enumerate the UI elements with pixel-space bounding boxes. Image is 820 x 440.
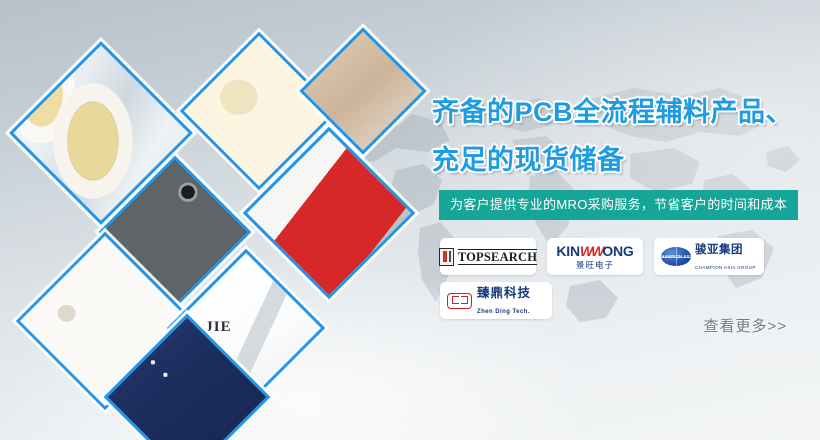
partner-logo-champion-asia[interactable]: CHAMPION ASIA 骏亚集团 CHAMPION ASIA GROUP [654,238,764,275]
champion-asia-name-cn: 骏亚集团 [695,244,743,256]
champion-asia-name-en: CHAMPION ASIA GROUP [695,265,756,270]
headline-line-2: 充足的现货储备 [432,136,820,184]
banner-headline: 齐备的PCB全流程辅料产品、 充足的现货储备 [432,88,820,184]
headline-line-1: 齐备的PCB全流程辅料产品、 [432,97,793,127]
zhen-ding-name-cn: 臻鼎科技 [477,286,531,300]
product-collage: JIE [0,0,470,440]
banner-subtitle-bar: 为客户提供专业的MRO采购服务，节省客户的时间和成本 [439,190,798,220]
topsearch-emblem-icon [439,248,454,266]
banner-content: 齐备的PCB全流程辅料产品、 充足的现货储备 为客户提供专业的MRO采购服务，节… [430,0,820,440]
kinwong-wordmark-icon: KINWWONG [556,244,633,258]
partner-logo-topsearch[interactable]: TOPSEARCH [440,238,536,275]
label-text: JIE [205,320,231,337]
promo-banner: JIE 齐备的PCB全流程辅料产品、 充足的现货储备 为客户提供专业的MRO采购… [0,0,820,440]
partner-logo-row-2: 臻鼎科技 Zhen Ding Tech. [440,282,820,319]
partner-logo-row-1: TOPSEARCH KINWWONG 景旺电子 CHAMPION ASIA [440,238,820,275]
topsearch-wordmark: TOPSEARCH [458,249,537,265]
partner-logo-kinwong[interactable]: KINWWONG 景旺电子 [547,238,643,275]
partner-logo-zhen-ding[interactable]: 臻鼎科技 Zhen Ding Tech. [440,282,552,319]
kinwong-name-cn: 景旺电子 [556,261,633,270]
zhen-ding-emblem-icon [447,293,472,309]
zhen-ding-name-en: Zhen Ding Tech. [477,309,530,315]
partner-logo-group: TOPSEARCH KINWWONG 景旺电子 CHAMPION ASIA [440,238,820,326]
view-more-link[interactable]: 查看更多>> [703,315,787,336]
champion-asia-globe-icon: CHAMPION ASIA [661,247,691,266]
globe-label: CHAMPION ASIA [661,254,691,259]
